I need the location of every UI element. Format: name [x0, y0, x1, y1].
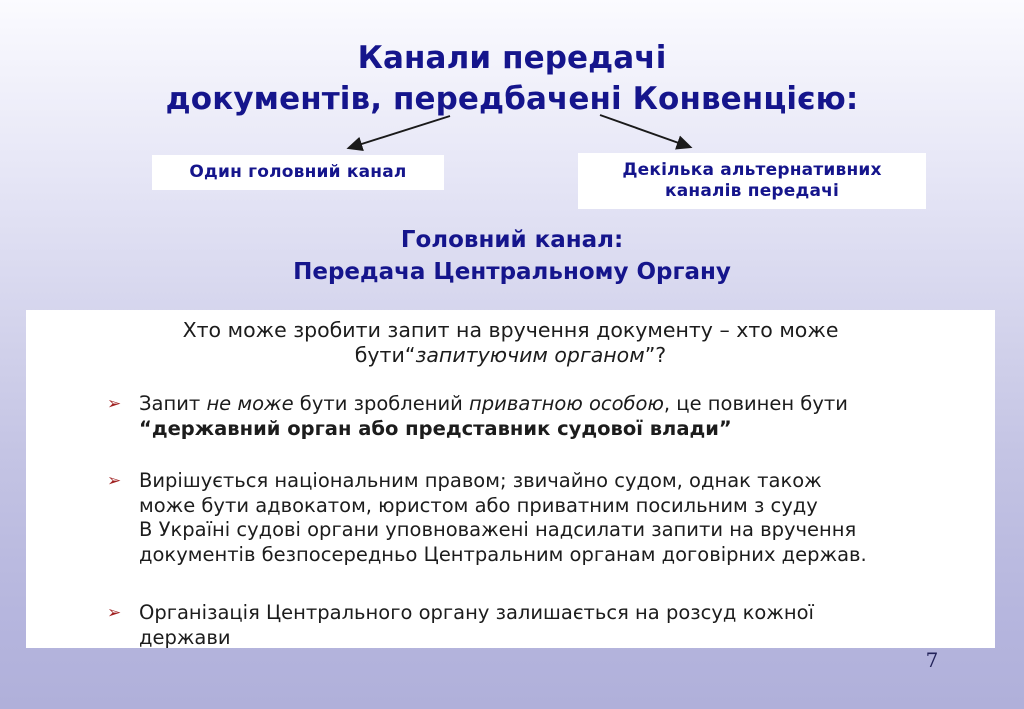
bullet-item-requesting-authority: ➢ Запит не може бути зроблений приватною… [101, 392, 979, 441]
page-title-line-1: Канали передачі [0, 38, 1024, 79]
section-subtitle-line-2: Передача Центральному Органу [0, 257, 1024, 289]
bullet-1-bold-quote: “державний орган або представник судової… [139, 417, 732, 440]
content-question-line-2-suffix: ”? [645, 343, 667, 367]
page-title: Канали передачі документів, передбачені … [0, 38, 1024, 120]
bullet-3-line-2: держави [139, 626, 979, 651]
chevron-bullet-icon: ➢ [107, 393, 121, 415]
bullet-3-line-1: Організація Центрального органу залишаєт… [139, 601, 979, 626]
callout-main-channel: Один головний канал [152, 155, 444, 190]
content-question-line-2: бути“запитуючим органом”? [78, 343, 943, 368]
bullet-1-line-1: Запит не може бути зроблений приватною о… [139, 392, 979, 417]
bullet-list: ➢ Запит не може бути зроблений приватною… [26, 392, 995, 651]
slide: Канали передачі документів, передбачені … [0, 0, 1024, 709]
section-subtitle-line-1: Головний канал: [0, 225, 1024, 257]
content-question-heading: Хто може зробити запит на вручення докум… [78, 318, 943, 368]
section-subtitle: Головний канал: Передача Центральному Ор… [0, 225, 1024, 288]
page-title-line-2: документів, передбачені Конвенцією: [0, 79, 1024, 120]
chevron-bullet-icon: ➢ [107, 470, 121, 492]
content-question-line-2-prefix: бути“ [355, 343, 416, 367]
callout-alternative-channels-line-2: каналів передачі [578, 181, 926, 202]
bullet-1-italic-1: не може [206, 392, 293, 415]
callout-alternative-channels: Декілька альтернативних каналів передачі [578, 153, 926, 209]
bullet-1-seg-3: , це повинен бути [664, 392, 848, 415]
content-question-line-1: Хто може зробити запит на вручення докум… [78, 318, 943, 343]
bullet-item-central-authority-organisation: ➢ Організація Центрального органу залиша… [101, 601, 979, 650]
callout-main-channel-label: Один головний канал [189, 162, 406, 182]
bullet-1-seg-2: бути зроблений [294, 392, 469, 415]
content-question-line-2-italic: запитуючим органом [415, 343, 644, 367]
page-number: 7 [912, 648, 952, 672]
bullet-item-national-law: ➢ Вирішується національним правом; звича… [101, 469, 979, 567]
bullet-1-line-2: “державний орган або представник судової… [139, 417, 979, 442]
bullet-2-line-2: може бути адвокатом, юристом або приватн… [139, 494, 979, 519]
bullet-2-line-3: В Україні судові органи уповноважені над… [139, 518, 979, 543]
bullet-2-line-1: Вирішується національним правом; звичайн… [139, 469, 979, 494]
content-panel: Хто може зробити запит на вручення докум… [26, 310, 995, 648]
chevron-bullet-icon: ➢ [107, 602, 121, 624]
bullet-2-line-4: документів безпосередньо Центральним орг… [139, 543, 979, 568]
callout-alternative-channels-line-1: Декілька альтернативних [578, 160, 926, 181]
bullet-1-seg-1: Запит [139, 392, 206, 415]
arrow-to-left-callout [349, 116, 450, 148]
bullet-1-italic-2: приватною особою [469, 392, 664, 415]
